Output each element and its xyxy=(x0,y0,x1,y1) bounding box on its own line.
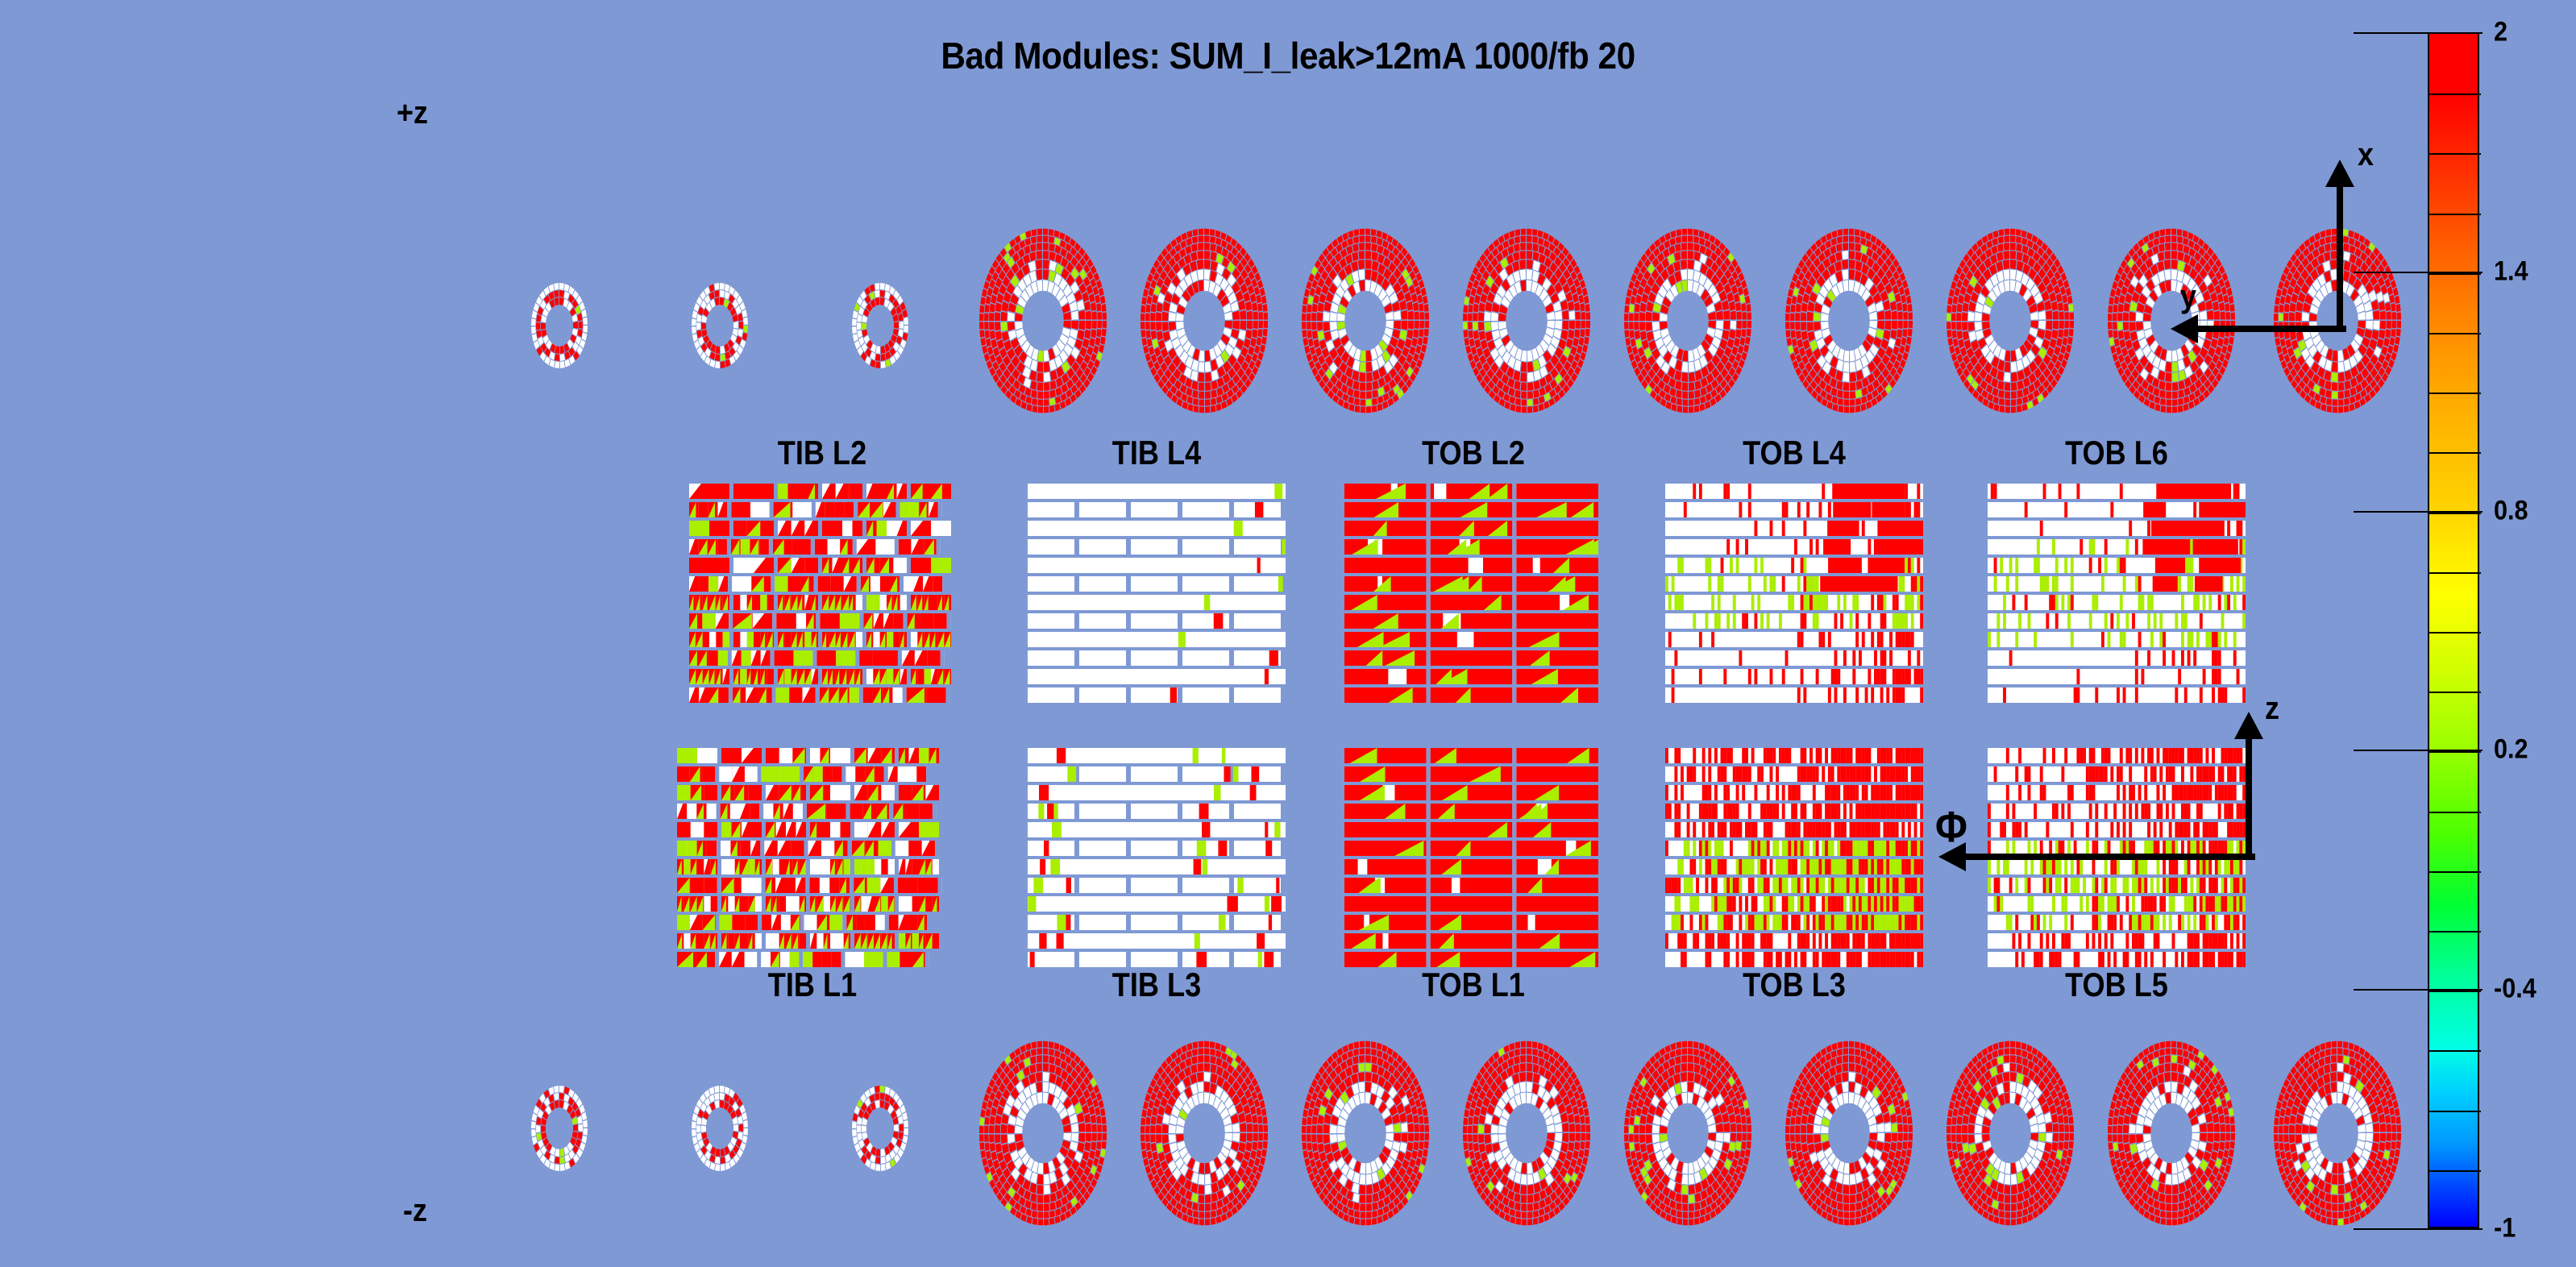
colorbar-segment-divider xyxy=(2429,1050,2481,1052)
z-axis-line xyxy=(2246,736,2252,857)
colorbar-segment-divider xyxy=(2429,1111,2481,1112)
z-scale-colorbar[interactable] xyxy=(2428,32,2479,1228)
colorbar-segment-divider xyxy=(2429,751,2481,753)
phi-axis-line xyxy=(1963,854,2255,860)
colorbar-segment-divider xyxy=(2429,1170,2481,1172)
colorbar-segment-divider xyxy=(2429,572,2481,574)
colorbar-tick-mark xyxy=(2354,1228,2483,1230)
colorbar-tick-mark xyxy=(2354,989,2483,991)
colorbar-tick-mark xyxy=(2354,511,2483,513)
colorbar-tick-label: 0.2 xyxy=(2494,734,2528,766)
colorbar-segment-divider xyxy=(2429,991,2481,992)
colorbar-tick-mark xyxy=(2354,272,2483,273)
colorbar-tick-label: -0.4 xyxy=(2494,974,2537,1005)
phi-axis-label: Φ xyxy=(1935,802,1967,852)
colorbar-segment-divider xyxy=(2429,931,2481,933)
colorbar-segment-divider xyxy=(2429,452,2481,454)
colorbar-segment-divider xyxy=(2429,871,2481,873)
colorbar-tick-label: 0.8 xyxy=(2494,495,2528,526)
zphi-axis-indicator: zΦ xyxy=(0,0,2576,1267)
colorbar-segment-divider xyxy=(2429,513,2481,514)
colorbar-segment-divider xyxy=(2429,393,2481,394)
colorbar-tick-label: 1.4 xyxy=(2494,255,2528,287)
colorbar-segment-divider xyxy=(2429,273,2481,275)
z-axis-label: z xyxy=(2265,691,2279,727)
colorbar-segment-divider xyxy=(2429,812,2481,813)
colorbar-segment-divider xyxy=(2429,333,2481,334)
colorbar-segment-divider xyxy=(2429,632,2481,633)
tracker-map-canvas: Bad Modules: SUM_I_leak>12mA 1000/fb 20 … xyxy=(0,0,2576,1267)
colorbar-segment-divider xyxy=(2429,214,2481,215)
colorbar-tick-mark xyxy=(2354,32,2483,34)
colorbar-segment-divider xyxy=(2429,153,2481,155)
colorbar-segment-divider xyxy=(2429,692,2481,693)
colorbar-segment-divider xyxy=(2429,93,2481,95)
colorbar-tick-label: 2 xyxy=(2494,17,2507,48)
z-axis-arrowhead xyxy=(2234,712,2263,739)
colorbar-tick-label: -1 xyxy=(2494,1213,2516,1244)
colorbar-tick-mark xyxy=(2354,750,2483,751)
